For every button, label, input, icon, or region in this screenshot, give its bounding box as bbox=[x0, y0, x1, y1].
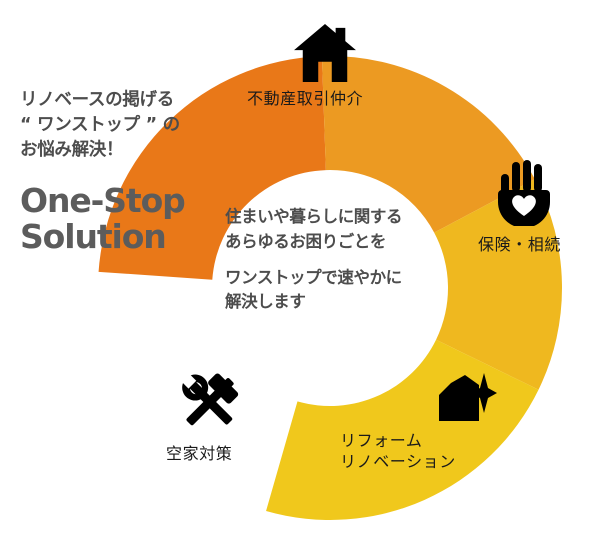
infographic-canvas: 不動産取引仲介 保険・相続 リフォーム リノベーション 空家対策 リノベースの掲… bbox=[0, 0, 600, 533]
center-description: 住まいや暮らしに関する あらゆるお困りごとを ワンストップで速やかに 解決します bbox=[225, 205, 440, 315]
headline-line-2: Solution bbox=[20, 219, 235, 256]
hammer-wrench-icon bbox=[178, 373, 240, 431]
center-line-3: ワンストップで速やかに bbox=[225, 266, 440, 291]
headline-block: リノベースの掲げる “ ワンストップ ” の お悩み解決！ One-Stop S… bbox=[20, 88, 235, 256]
hand-heart-icon bbox=[498, 160, 550, 226]
segment-label-line: リフォーム bbox=[340, 430, 456, 451]
segment-label-line: リノベーション bbox=[340, 451, 456, 472]
lead-line-1: リノベースの掲げる bbox=[20, 88, 235, 113]
segment-label-insurance: 保険・相続 bbox=[478, 234, 561, 255]
headline-line-1: One-Stop bbox=[20, 183, 235, 220]
segment-label-line: 保険・相続 bbox=[478, 234, 561, 255]
sparkle-house-icon bbox=[435, 373, 497, 425]
center-line-1: 住まいや暮らしに関する bbox=[225, 205, 440, 230]
segment-label-reform: リフォーム リノベーション bbox=[340, 430, 456, 472]
segment-label-vacant-house: 空家対策 bbox=[166, 443, 232, 464]
segment-label-line: 不動産取引仲介 bbox=[247, 88, 363, 109]
house-icon bbox=[294, 24, 356, 82]
lead-line-2: “ ワンストップ ” の bbox=[20, 113, 235, 138]
paragraph-spacer bbox=[225, 255, 440, 266]
lead-line-3: お悩み解決！ bbox=[20, 138, 235, 163]
center-line-2: あらゆるお困りごとを bbox=[225, 230, 440, 255]
page-title: One-Stop Solution bbox=[20, 183, 235, 257]
segment-label-line: 空家対策 bbox=[166, 443, 232, 464]
segment-label-real-estate: 不動産取引仲介 bbox=[247, 88, 363, 109]
center-line-4: 解決します bbox=[225, 290, 440, 315]
